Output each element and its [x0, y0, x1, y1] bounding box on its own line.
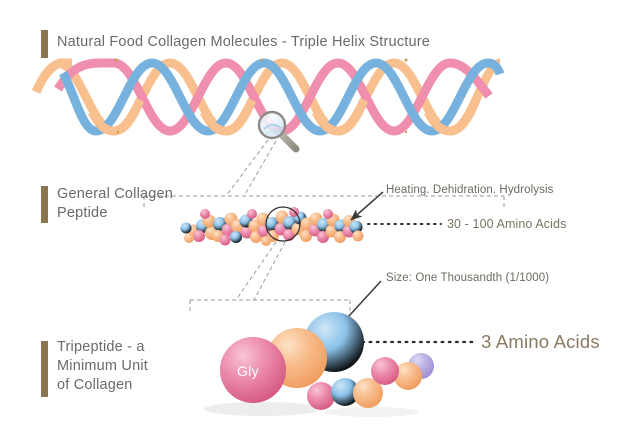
callout-heating-dehidration-hydrolysis: Heating. Dehidration. Hydrolysis — [386, 184, 553, 196]
gly-sphere-label: Gly — [237, 363, 259, 379]
small-sphere-group — [307, 353, 434, 410]
section-title-peptide: General Collagen Peptide — [57, 185, 173, 223]
callout-size-one-thousandth: Size: One Thousandth (1/1000) — [386, 272, 549, 284]
helix-strand-pink — [58, 63, 489, 131]
helix-joint-dots — [115, 59, 408, 134]
orange-sphere — [267, 328, 327, 388]
peptide-cluster-graphic — [181, 207, 364, 246]
small-purple-sphere — [408, 353, 434, 379]
triple-helix-graphic — [36, 59, 500, 134]
accent-bar-peptide — [41, 186, 48, 223]
accent-bar-helix — [41, 30, 48, 58]
accent-bar-tripeptide — [41, 341, 48, 397]
magnifier-icon[interactable] — [259, 112, 296, 149]
arrow-to-tripeptide — [338, 281, 381, 328]
highlight-circle — [266, 207, 300, 241]
small-blue-sphere — [331, 378, 359, 406]
helix-strand-orange — [58, 63, 500, 131]
callout-3-amino-acids: 3 Amino Acids — [481, 331, 600, 353]
small-orange-sphere-2 — [394, 362, 422, 390]
section-title-tripeptide: Tripeptide - a Minimum Unit of Collagen — [57, 338, 148, 395]
arrow-to-peptide — [351, 192, 383, 220]
diagram-canvas: Natural Food Collagen Molecules - Triple… — [0, 0, 618, 446]
helix-strand-blue — [63, 63, 500, 131]
connector-peptide-to-tripeptide — [190, 242, 350, 311]
small-pink-sphere-2 — [371, 357, 399, 385]
callout-30-100-amino-acids: 30 - 100 Amino Acids — [447, 217, 566, 231]
small-pink-sphere — [307, 382, 335, 410]
peptide-spheres — [181, 207, 364, 246]
connector-helix-to-peptide — [144, 140, 504, 207]
helix-strand-orange-front — [36, 63, 476, 131]
section-title-helix: Natural Food Collagen Molecules - Triple… — [57, 33, 430, 52]
blue-sphere — [304, 312, 364, 372]
small-orange-sphere — [353, 378, 383, 408]
